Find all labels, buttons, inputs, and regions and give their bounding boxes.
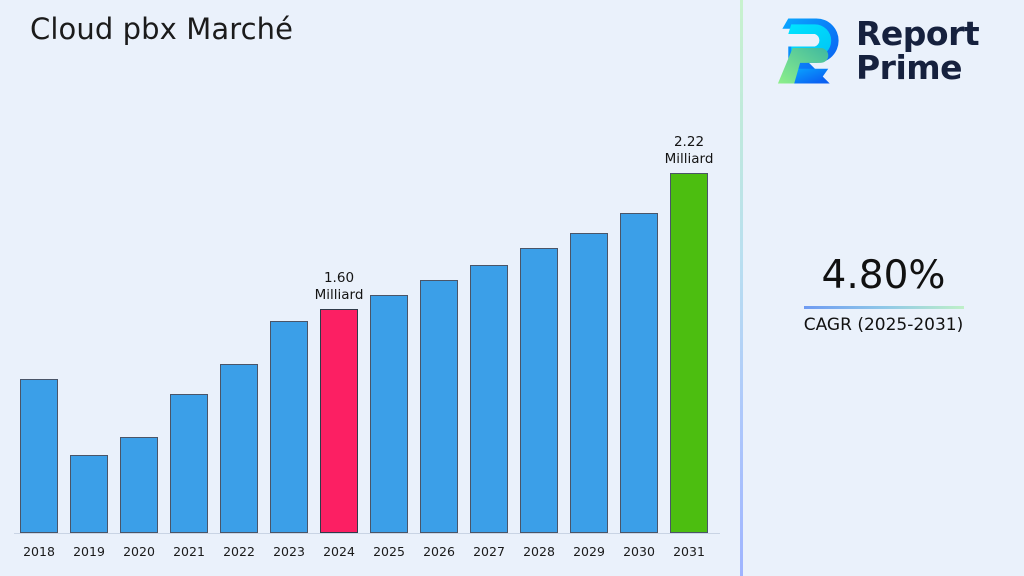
bar-2026	[420, 280, 458, 533]
right-panel: Report Prime 4.80% CAGR (2025-2031)	[743, 0, 1024, 576]
cagr-value: 4.80%	[743, 252, 1024, 300]
cagr-block: 4.80% CAGR (2025-2031)	[743, 252, 1024, 336]
bar-chart: 2018201920202021202220231.60Milliard2024…	[0, 0, 740, 576]
bar-2019	[70, 455, 108, 533]
bar-2024	[320, 309, 358, 533]
bar-2031	[670, 173, 708, 533]
cagr-caption: CAGR (2025-2031)	[743, 314, 1024, 336]
brand-name-line1: Report	[856, 17, 979, 51]
bar-2020	[120, 437, 158, 533]
chart-plot-area: 2018201920202021202220231.60Milliard2024…	[0, 0, 740, 576]
bar-2025	[370, 295, 408, 533]
bar-2029	[570, 233, 608, 533]
bar-2028	[520, 248, 558, 533]
brand-logo: Report Prime	[772, 12, 979, 90]
bar-2023	[270, 321, 308, 533]
report-prime-logo-icon	[772, 12, 846, 90]
bar-2021	[170, 394, 208, 533]
brand-wordmark: Report Prime	[856, 17, 979, 85]
bar-2018	[20, 379, 58, 533]
bar-value-unit-2031: Milliard	[629, 151, 749, 168]
x-axis-line	[14, 533, 720, 534]
bar-value-number-2024: 1.60	[279, 270, 399, 287]
brand-name-line2: Prime	[856, 51, 979, 85]
bar-value-label-2031: 2.22Milliard	[629, 134, 749, 168]
x-tick-label-2031: 2031	[659, 544, 719, 559]
chart-canvas: Cloud pbx Marché 20182019202020212022202…	[0, 0, 1024, 576]
cagr-divider-rule	[804, 306, 964, 309]
bar-2022	[220, 364, 258, 533]
bar-value-number-2031: 2.22	[629, 134, 749, 151]
bar-2030	[620, 213, 658, 533]
bar-2027	[470, 265, 508, 533]
